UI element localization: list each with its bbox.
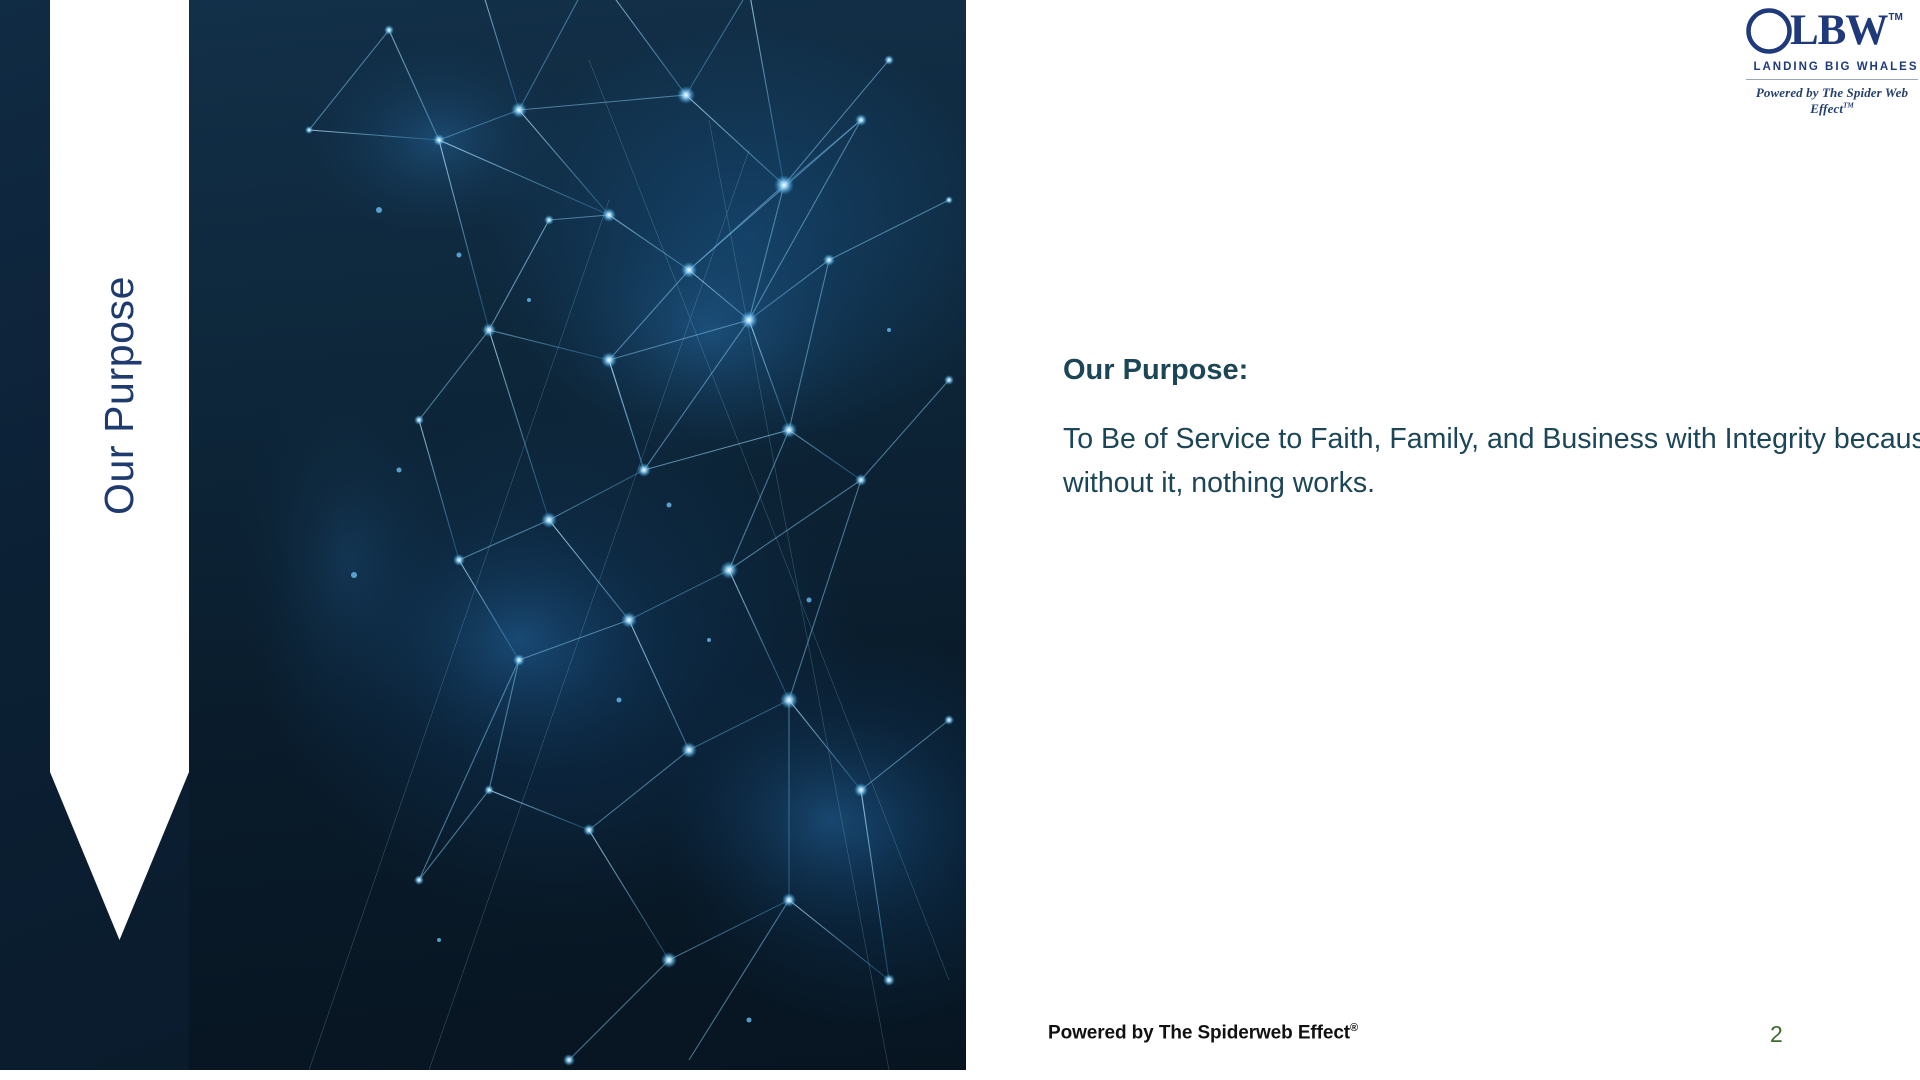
slide-title-text: Our Purpose	[99, 275, 140, 514]
logo-wordmark-row: LBWTM	[1744, 8, 1920, 60]
slide-bottom-margin	[0, 1070, 1920, 1080]
logo-tm-mark: TM	[1888, 12, 1902, 23]
logo-divider	[1746, 79, 1918, 80]
footer-powered-by: Powered by The Spiderweb Effect®	[1048, 1022, 1358, 1044]
logo-wordmark: LBWTM	[1790, 8, 1902, 54]
whale-tail-circle-icon	[1746, 8, 1792, 54]
logo-powered-by: Powered by The Spider Web EffectTM	[1744, 85, 1920, 117]
logo-lbw-text: LBW	[1790, 8, 1887, 54]
purpose-paragraph: To Be of Service to Faith, Family, and B…	[1063, 418, 1920, 505]
footer-registered-mark: ®	[1350, 1022, 1358, 1034]
left-visual-panel: Our Purpose	[0, 0, 966, 1070]
logo-powered-by-text: Powered by The Spider Web Effect	[1756, 85, 1908, 116]
slide-title-vertical: Our Purpose	[50, 0, 189, 790]
purpose-text-block: Our Purpose: To Be of Service to Faith, …	[1063, 352, 1920, 505]
right-content-area	[966, 0, 1920, 1080]
network-constellation-image	[189, 0, 966, 1070]
page-number: 2	[1770, 1021, 1783, 1048]
logo-powered-tm: TM	[1843, 102, 1854, 110]
footer-powered-by-text: Powered by The Spiderweb Effect	[1048, 1022, 1350, 1043]
logo-tagline: LANDING BIG WHALES	[1744, 61, 1920, 73]
slide-canvas: Our Purpose LBWTM LANDING BIG WHALES Pow…	[0, 0, 1920, 1080]
lbw-logo[interactable]: LBWTM LANDING BIG WHALES Powered by The …	[1744, 8, 1920, 106]
purpose-heading: Our Purpose:	[1063, 352, 1920, 388]
